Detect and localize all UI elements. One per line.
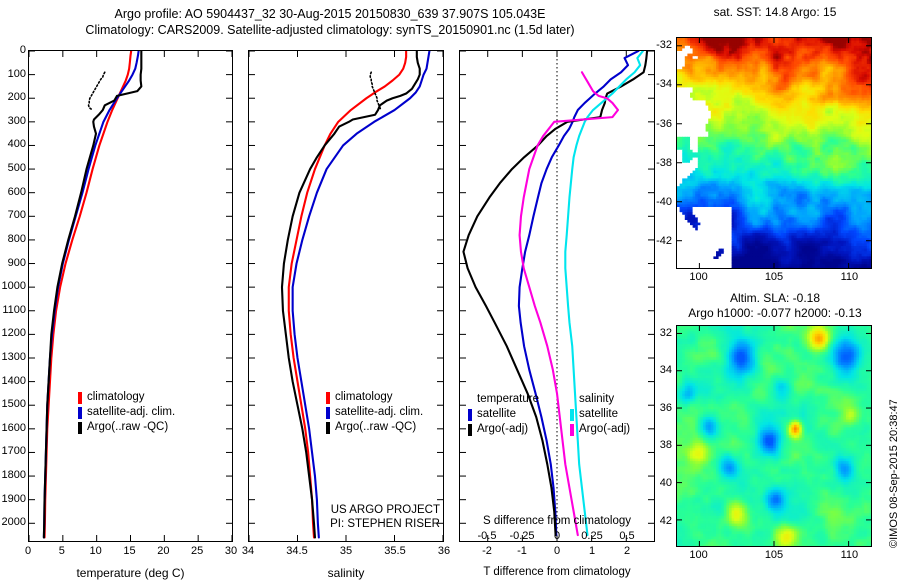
map-lat-tick-label: 42 [632,516,672,526]
temperature-difference-axis-title: T difference from climatology [459,566,655,578]
depth-tick-label: 800 [0,234,26,244]
legend-label: Argo(..raw -QC) [87,420,168,435]
map-lat-tick-label: 40 [632,478,672,488]
salinity-profile-panel [248,50,444,542]
temperature-axis-title: temperature (deg C) [28,566,233,580]
legend-color-swatch [326,422,330,434]
figure-title: Argo profile: AO 5904437_32 30-Aug-2015 … [0,6,660,38]
title-line-1: Argo profile: AO 5904437_32 30-Aug-2015 … [0,6,660,22]
legend-title: temperature [468,392,539,407]
depth-tick-label: 1200 [0,328,26,338]
legend-color-swatch [468,424,472,436]
sla-title-line-2: Argo h1000: -0.077 h2000: -0.13 [660,306,890,321]
map-lat-tick-label: -32 [632,40,672,50]
legend-color-swatch [326,392,330,404]
legend-item: Argo(..raw -QC) [78,420,175,435]
depth-tick-label: 0 [0,45,26,55]
map-lat-tick-label: 32 [632,328,672,338]
depth-tick-label: 900 [0,258,26,268]
temperature-legend: climatologysatellite-adj. clim.Argo(..ra… [78,390,175,435]
map-lon-tick-label: 100 [679,550,719,561]
axis-tick-label: 2 [605,546,649,557]
sla-title-line-1: Altim. SLA: -0.18 [660,291,890,306]
axis-tick-label: 36 [422,546,466,557]
legend-item: Argo(-adj) [570,422,630,437]
sla-map-field [677,326,871,546]
axis-tick-label: 35.5 [373,546,417,557]
map-lat-tick-label: -34 [632,79,672,89]
project-line-2: PI: STEPHEN RISER [264,517,440,531]
legend-color-swatch [78,407,82,419]
legend-color-swatch [570,424,574,436]
project-credit: US ARGO PROJECT PI: STEPHEN RISER [264,503,440,531]
legend-label: satellite-adj. clim. [87,405,175,420]
map-lon-tick-label: 110 [829,272,869,283]
difference-profile-panel [459,50,655,542]
legend-item: climatology [326,390,423,405]
depth-tick-label: 1800 [0,470,26,480]
project-line-1: US ARGO PROJECT [264,503,440,517]
map-lat-tick-label: -38 [632,158,672,168]
legend-label: Argo(-adj) [477,422,528,437]
map-lon-tick-label: 105 [754,550,794,561]
map-lat-tick-label: 36 [632,403,672,413]
legend-item: Argo(..raw -QC) [326,420,423,435]
legend-item: satellite-adj. clim. [78,405,175,420]
map-lat-tick-label: -42 [632,236,672,246]
depth-tick-label: 400 [0,139,26,149]
temperature-profile-panel [28,50,233,542]
depth-tick-label: 1100 [0,305,26,315]
difference-legend-salinity: salinitysatelliteArgo(-adj) [570,392,630,437]
sst-map [676,37,872,269]
legend-label: satellite [477,407,516,422]
depth-tick-label: 1900 [0,494,26,504]
sla-map [676,325,872,547]
legend-label: Argo(..raw -QC) [335,420,416,435]
legend-color-swatch [78,422,82,434]
sst-map-field [677,38,871,268]
depth-tick-label: 100 [0,69,26,79]
salinity-legend: climatologysatellite-adj. clim.Argo(..ra… [326,390,423,435]
map-lon-tick-label: 110 [829,550,869,561]
temperature-plot-area [29,51,232,541]
depth-tick-label: 1300 [0,352,26,362]
map-lat-tick-label: 34 [632,365,672,375]
axis-tick-label: 34 [226,546,270,557]
legend-color-swatch [78,392,82,404]
depth-tick-label: 500 [0,163,26,173]
depth-tick-label: 1000 [0,281,26,291]
axis-tick-label: 34.5 [275,546,319,557]
map-lat-tick-label: 38 [632,440,672,450]
salinity-difference-axis-title: S difference from climatology [459,515,655,527]
legend-label: climatology [87,390,145,405]
map-lat-tick-label: -36 [632,119,672,129]
depth-tick-label: 600 [0,187,26,197]
legend-item: Argo(-adj) [468,422,539,437]
legend-label: satellite-adj. clim. [335,405,423,420]
sst-map-title: sat. SST: 14.8 Argo: 15 [660,5,890,20]
map-lon-tick-label: 100 [679,272,719,283]
axis-tick-label: 35 [324,546,368,557]
legend-item: satellite [570,407,630,422]
depth-tick-label: 2000 [0,517,26,527]
salinity-plot-area [249,51,443,541]
depth-tick-label: 1700 [0,446,26,456]
difference-plot-area [460,51,654,541]
axis-tick-label: 0.5 [605,531,649,542]
map-lat-tick-label: -40 [632,197,672,207]
legend-label: Argo(-adj) [579,422,630,437]
legend-color-swatch [570,409,574,421]
legend-label: satellite [579,407,618,422]
depth-tick-label: 300 [0,116,26,126]
legend-item: satellite-adj. clim. [326,405,423,420]
legend-color-swatch [468,409,472,421]
depth-tick-label: 1400 [0,376,26,386]
legend-color-swatch [326,407,330,419]
copyright-credit: ©IMOS 08-Sep-2015 20:38:47 [888,399,900,548]
difference-legend-temperature: temperaturesatelliteArgo(-adj) [468,392,539,437]
sla-map-title: Altim. SLA: -0.18 Argo h1000: -0.077 h20… [660,291,890,321]
depth-tick-label: 1500 [0,399,26,409]
legend-label: climatology [335,390,393,405]
legend-item: climatology [78,390,175,405]
depth-tick-label: 700 [0,210,26,220]
depth-tick-label: 1600 [0,423,26,433]
depth-tick-label: 200 [0,92,26,102]
salinity-axis-title: salinity [248,566,444,580]
legend-item: satellite [468,407,539,422]
legend-title: salinity [570,392,630,407]
title-line-2: Climatology: CARS2009. Satellite-adjuste… [0,22,660,38]
map-lon-tick-label: 105 [754,272,794,283]
